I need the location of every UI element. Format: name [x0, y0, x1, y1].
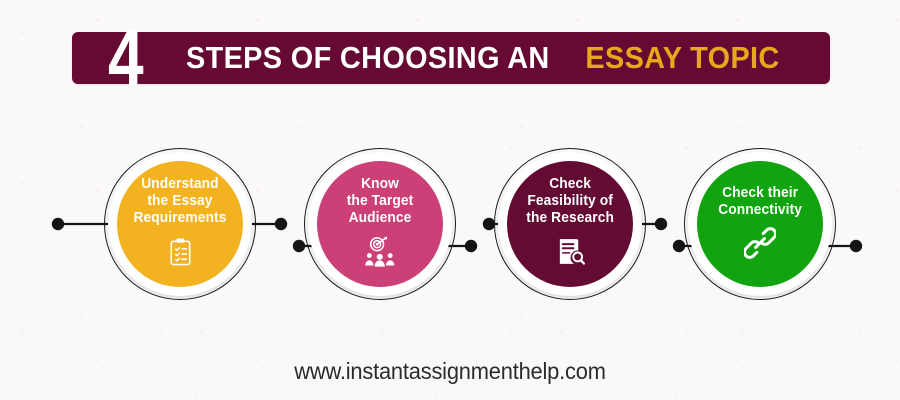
step-node-2-label: Know the Target Audience	[341, 176, 419, 227]
connector-dot-start	[52, 218, 64, 230]
clipboard-checklist-icon	[163, 234, 197, 268]
page-title: STEPS OF CHOOSING AN ESSAY TOPIC	[186, 32, 795, 84]
step-node-1[interactable]: Understand the Essay Requirements	[104, 148, 256, 300]
target-audience-icon	[363, 234, 397, 268]
step-node-2-disc: Know the Target Audience	[317, 161, 443, 287]
footer-website-url[interactable]: www.instantassignmenthelp.com	[23, 358, 878, 385]
step-node-4-disc: Check their Connectivity	[697, 161, 823, 287]
step-node-3-disc: Check Feasibility of the Research	[507, 161, 633, 287]
step-node-4[interactable]: Check their Connectivity	[684, 148, 836, 300]
header-step-count: 4	[108, 10, 185, 106]
step-node-2[interactable]: Know the Target Audience	[304, 148, 456, 300]
chain-link-icon	[743, 226, 777, 260]
connector-dot-3a	[655, 218, 667, 230]
page-title-primary: STEPS OF CHOOSING AN	[186, 40, 550, 76]
connector-dot-2a	[465, 240, 477, 252]
document-search-icon	[553, 234, 587, 268]
step-node-4-label: Check their Connectivity	[712, 185, 807, 219]
step-node-3-label: Check Feasibility of the Research	[520, 176, 619, 227]
step-node-3[interactable]: Check Feasibility of the Research	[494, 148, 646, 300]
process-flow-diagram: Understand the Essay Requirements Know t…	[0, 130, 900, 320]
step-node-1-disc: Understand the Essay Requirements	[117, 161, 243, 287]
connector-dot-end	[850, 240, 862, 252]
page-title-highlight: ESSAY TOPIC	[577, 40, 780, 76]
step-node-1-label: Understand the Essay Requirements	[128, 176, 232, 227]
connector-dot-1a	[275, 218, 287, 230]
